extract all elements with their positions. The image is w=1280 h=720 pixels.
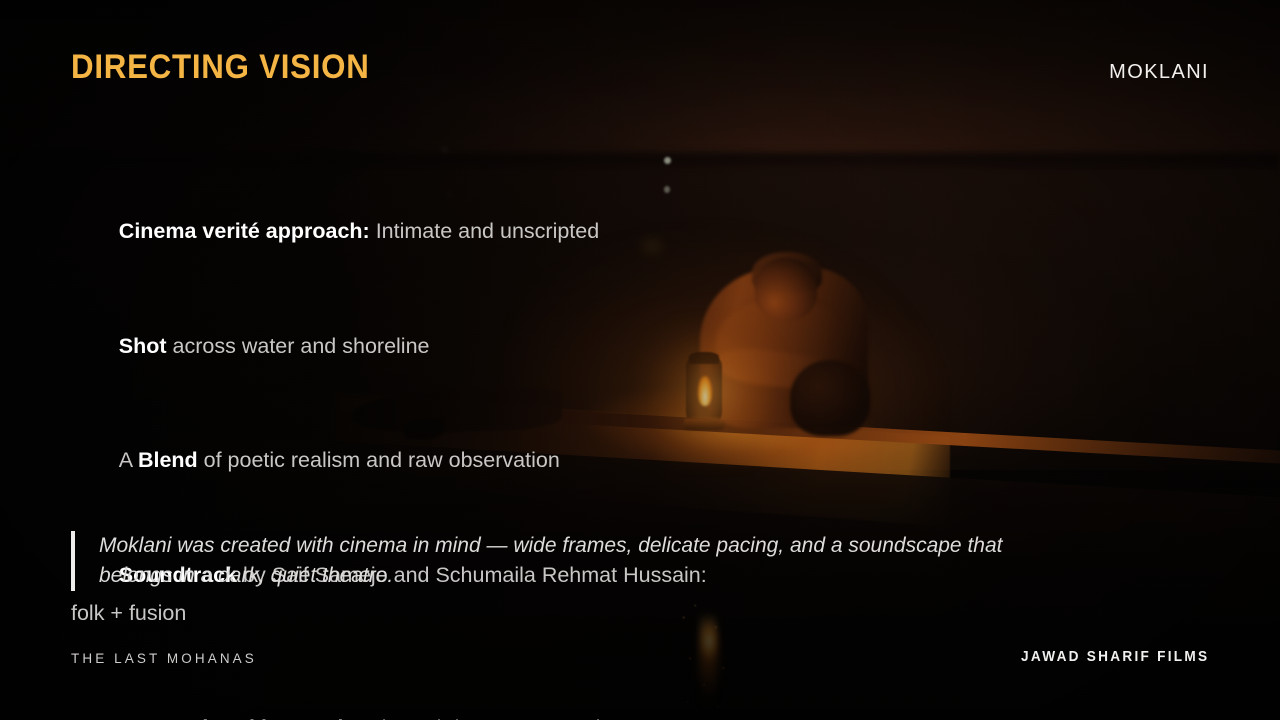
- pull-quote-text: Moklani was created with cinema in mind …: [99, 531, 1081, 591]
- footer-studio-name: JAWAD SHARIF FILMS: [1021, 649, 1209, 665]
- list-item: Deep cultural immersion through language…: [71, 671, 731, 720]
- brand-label: MOKLANI: [1109, 61, 1209, 84]
- list-item-rest: Intimate and unscripted: [370, 219, 599, 243]
- list-item-lead: Shot: [119, 334, 167, 358]
- bullet-list: Cinema verité approach: Intimate and uns…: [71, 174, 731, 720]
- list-item-lead: Deep cultural immersion: [119, 716, 370, 720]
- list-item: Shot across water and shoreline: [71, 289, 731, 404]
- list-item-lead: Cinema verité approach:: [119, 219, 370, 243]
- list-item-lead: Blend: [138, 448, 198, 472]
- list-item-rest: of poetic realism and raw observation: [198, 448, 560, 472]
- list-item: A Blend of poetic realism and raw observ…: [71, 403, 731, 518]
- page-title: DIRECTING VISION: [71, 48, 370, 87]
- footer-film-title: THE LAST MOHANAS: [71, 651, 257, 666]
- pull-quote: Moklani was created with cinema in mind …: [71, 531, 1081, 591]
- list-item: Cinema verité approach: Intimate and uns…: [71, 174, 731, 289]
- presentation-slide: DIRECTING VISION MOKLANI Cinema verité a…: [0, 0, 1280, 720]
- list-item-rest: across water and shoreline: [167, 334, 430, 358]
- slide-content: DIRECTING VISION MOKLANI Cinema verité a…: [0, 0, 1280, 720]
- list-item-pre: A: [119, 448, 138, 472]
